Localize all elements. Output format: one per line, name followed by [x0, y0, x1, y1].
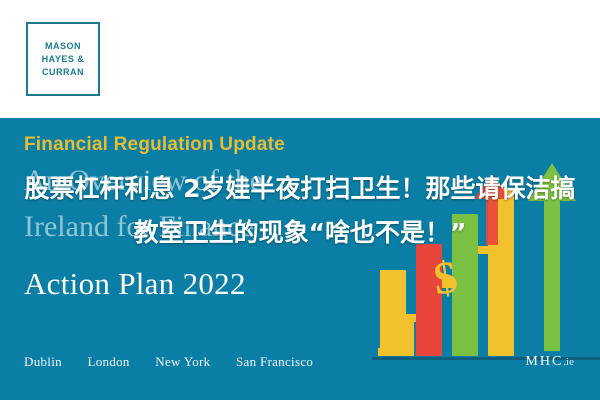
stair-riser-1 [406, 322, 414, 356]
brand-mark-suffix: .ie [563, 356, 574, 368]
city-london: London [87, 354, 129, 369]
logo-line-1: MASON [45, 40, 81, 53]
poster-title: Action Plan 2022 [24, 266, 246, 302]
city-dublin: Dublin [24, 354, 62, 369]
brand-mark: MHC.ie [525, 354, 574, 370]
screenshot-root: MASON HAYES & CURRAN [0, 0, 600, 400]
city-new-york: New York [155, 354, 210, 369]
poster-area: $ Financial Regulation Update An Overvie… [0, 118, 600, 400]
logo-line-3: CURRAN [42, 66, 84, 79]
overlay-headline-line-1: 股票杠杆利息 2岁娃半夜打扫卫生！那些请保洁搞 [0, 168, 600, 210]
overlay-headline-line-2: 教室卫生的现象“啥也不是！” [0, 212, 600, 254]
city-san-francisco: San Francisco [236, 354, 313, 369]
mason-hayes-curran-logo: MASON HAYES & CURRAN [26, 22, 100, 96]
logo-line-2: HAYES & [42, 53, 85, 66]
poster-eyebrow: Financial Regulation Update [24, 134, 285, 156]
bar-1 [380, 270, 406, 356]
top-white-band: MASON HAYES & CURRAN [0, 0, 600, 118]
brand-mark-text: MHC [525, 354, 563, 369]
poster-cities: Dublin London New York San Francisco [24, 354, 335, 370]
